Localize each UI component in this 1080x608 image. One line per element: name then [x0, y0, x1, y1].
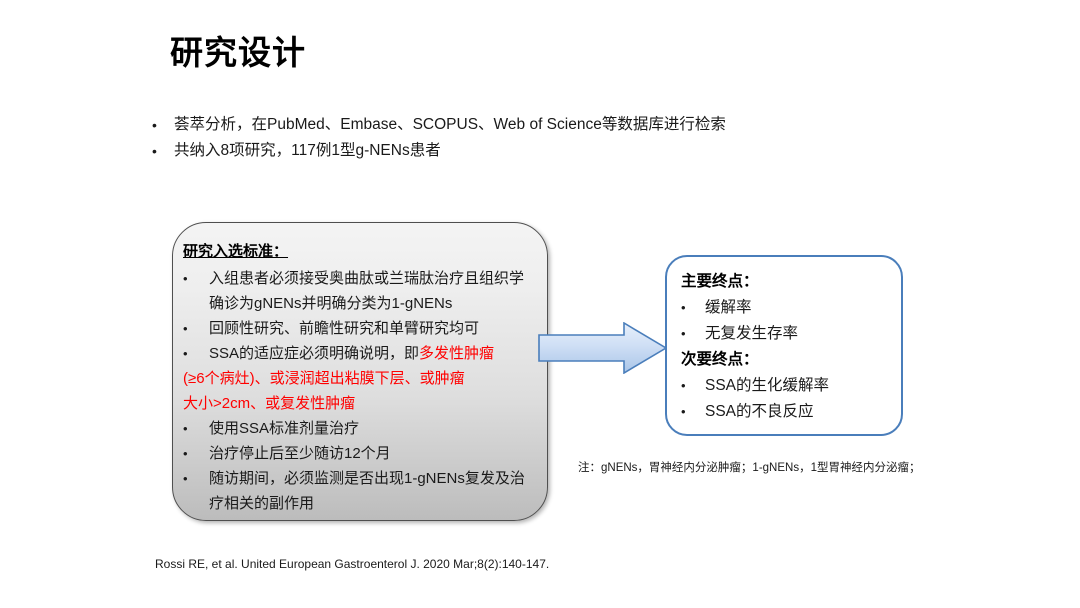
bullet-icon: • — [183, 466, 209, 491]
inclusion-criteria-content: 研究入选标准： • 入组患者必须接受奥曲肽或兰瑞肽治疗且组织学确诊为gNENs并… — [183, 241, 535, 516]
intro-bullet-text: 荟萃分析，在PubMed、Embase、SCOPUS、Web of Scienc… — [174, 112, 726, 138]
bullet-icon: • — [152, 112, 174, 138]
primary-endpoint-item: • 无复发生存率 — [681, 321, 895, 347]
criteria-item-text: 回顾性研究、前瞻性研究和单臂研究均可 — [209, 316, 535, 341]
bullet-icon: • — [183, 416, 209, 441]
bullet-icon: • — [681, 295, 705, 321]
intro-bullet-text: 共纳入8项研究，117例1型g-NENs患者 — [174, 138, 441, 164]
bullet-icon: • — [681, 321, 705, 347]
primary-endpoint-text: 缓解率 — [705, 295, 752, 321]
page-title: 研究设计 — [170, 33, 306, 73]
intro-bullet-list: • 荟萃分析，在PubMed、Embase、SCOPUS、Web of Scie… — [152, 112, 952, 164]
bullet-icon: • — [183, 266, 209, 291]
primary-endpoint-heading: 主要终点： — [681, 269, 895, 295]
criteria-item-text: SSA的适应症必须明确说明，即多发性肿瘤 — [209, 341, 535, 366]
secondary-endpoint-item: • SSA的不良反应 — [681, 399, 895, 425]
citation: Rossi RE, et al. United European Gastroe… — [155, 557, 549, 571]
secondary-endpoint-text: SSA的不良反应 — [705, 399, 814, 425]
criteria-item-red-continuation: (≥6个病灶)、或浸润超出粘膜下层、或肿瘤 — [183, 366, 535, 391]
bullet-icon: • — [183, 341, 209, 366]
bullet-icon: • — [183, 441, 209, 466]
criteria-item-text-red: 多发性肿瘤 — [419, 345, 494, 362]
primary-endpoint-text: 无复发生存率 — [705, 321, 798, 347]
criteria-item-text: 入组患者必须接受奥曲肽或兰瑞肽治疗且组织学确诊为gNENs并明确分类为1-gNE… — [209, 266, 535, 316]
criteria-item: • 回顾性研究、前瞻性研究和单臂研究均可 — [183, 316, 535, 341]
criteria-item: • 入组患者必须接受奥曲肽或兰瑞肽治疗且组织学确诊为gNENs并明确分类为1-g… — [183, 266, 535, 316]
criteria-item: • 治疗停止后至少随访12个月 — [183, 441, 535, 466]
intro-bullet-item: • 共纳入8项研究，117例1型g-NENs患者 — [152, 138, 952, 164]
endpoints-content: 主要终点： • 缓解率 • 无复发生存率 次要终点： • SSA的生化缓解率 •… — [681, 269, 895, 425]
criteria-item-text-black: SSA的适应症必须明确说明，即 — [209, 345, 419, 362]
secondary-endpoint-heading: 次要终点： — [681, 347, 895, 373]
secondary-endpoint-text: SSA的生化缓解率 — [705, 373, 829, 399]
abbreviation-note: 注：gNENs，胃神经内分泌肿瘤；1-gNENs，1型胃神经内分泌瘤； — [578, 459, 920, 475]
secondary-endpoint-item: • SSA的生化缓解率 — [681, 373, 895, 399]
criteria-item-text: 治疗停止后至少随访12个月 — [209, 441, 535, 466]
criteria-item-text: 使用SSA标准剂量治疗 — [209, 416, 535, 441]
bullet-icon: • — [183, 316, 209, 341]
primary-endpoint-item: • 缓解率 — [681, 295, 895, 321]
bullet-icon: • — [681, 373, 705, 399]
criteria-item-highlighted: • SSA的适应症必须明确说明，即多发性肿瘤 — [183, 341, 535, 366]
inclusion-criteria-box: 研究入选标准： • 入组患者必须接受奥曲肽或兰瑞肽治疗且组织学确诊为gNENs并… — [172, 222, 548, 521]
criteria-item-red-continuation: 大小>2cm、或复发性肿瘤 — [183, 391, 535, 416]
intro-bullet-item: • 荟萃分析，在PubMed、Embase、SCOPUS、Web of Scie… — [152, 112, 952, 138]
endpoints-box: 主要终点： • 缓解率 • 无复发生存率 次要终点： • SSA的生化缓解率 •… — [665, 255, 903, 436]
right-arrow-icon — [538, 322, 668, 374]
criteria-item-text: 随访期间，必须监测是否出现1-gNENs复发及治疗相关的副作用 — [209, 466, 535, 516]
criteria-item: • 随访期间，必须监测是否出现1-gNENs复发及治疗相关的副作用 — [183, 466, 535, 516]
criteria-item: • 使用SSA标准剂量治疗 — [183, 416, 535, 441]
bullet-icon: • — [681, 399, 705, 425]
bullet-icon: • — [152, 138, 174, 164]
inclusion-criteria-heading: 研究入选标准： — [183, 241, 535, 263]
